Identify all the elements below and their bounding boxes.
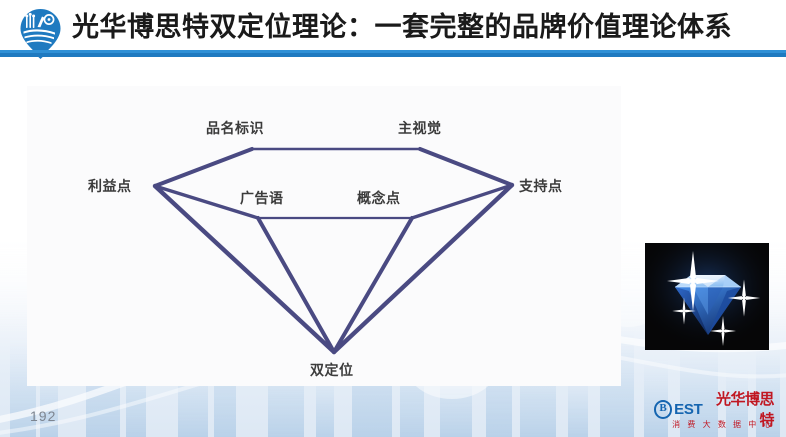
diagram-label-mid-left: 广告语 xyxy=(240,188,284,208)
logo-subtitle: 消 费 大 数 据 中 心 xyxy=(654,419,774,430)
diagram-label-top-left: 品名标识 xyxy=(206,118,264,138)
diagram-label-right-vertex: 支持点 xyxy=(519,176,563,196)
diamond-photo xyxy=(645,243,769,350)
page-title: 光华博思特双定位理论：一套完整的品牌价值理论体系 xyxy=(72,9,732,45)
slide-canvas: 光华博思特双定位理论：一套完整的品牌价值理论体系 品名标识 主视 xyxy=(0,0,786,437)
company-logo: B EST 光华博思特 消 费 大 数 据 中 心 xyxy=(654,400,774,434)
diagram-label-left-vertex: 利益点 xyxy=(88,176,132,196)
diagram-panel xyxy=(27,86,621,386)
logo-mark-icon: B xyxy=(654,400,672,419)
header-accent-bar-highlight xyxy=(0,50,786,53)
diagram-label-mid-right: 概念点 xyxy=(357,188,401,208)
diagram-label-top-right: 主视觉 xyxy=(398,118,442,138)
diagram-label-bottom-vertex: 双定位 xyxy=(310,360,354,380)
page-number: 192 xyxy=(30,408,56,424)
logo-name-en: EST xyxy=(674,401,702,418)
header-accent-bar xyxy=(0,50,786,57)
